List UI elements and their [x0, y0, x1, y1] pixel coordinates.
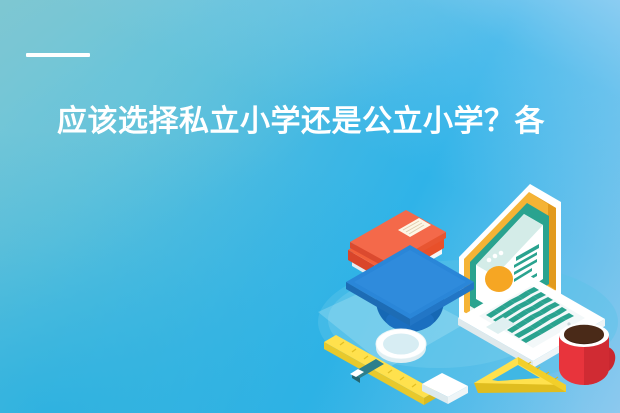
desk-study-illustration — [318, 172, 620, 413]
page-title: 应该选择私立小学还是公立小学？各 — [57, 100, 597, 144]
accent-rule — [26, 53, 90, 57]
coffee-mug-icon — [559, 323, 615, 385]
promo-banner: 应该选择私立小学还是公立小学？各 — [0, 0, 620, 413]
